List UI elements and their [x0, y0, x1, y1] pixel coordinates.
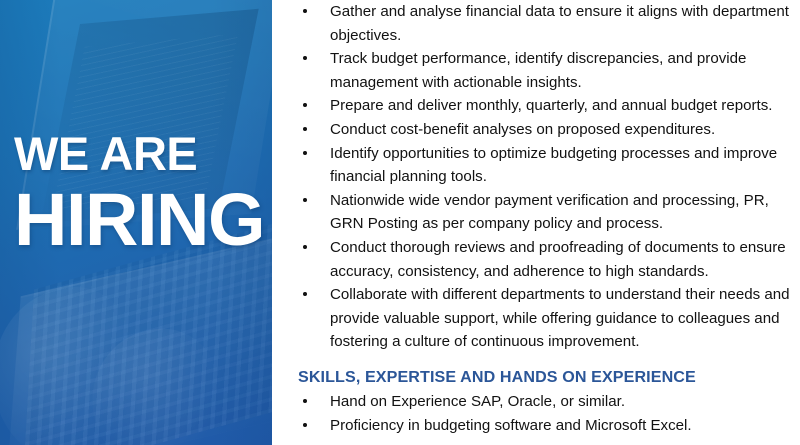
- list-item-text: Identify opportunities to optimize budge…: [330, 145, 777, 186]
- list-item: Gather and analyse financial data to ens…: [298, 0, 790, 47]
- list-item-text: Nationwide wide vendor payment verificat…: [330, 192, 769, 233]
- bullet-dot-icon: [303, 245, 307, 249]
- banner-content-gutter: [272, 0, 298, 445]
- banner-headline-line2: HIRING: [14, 182, 272, 258]
- bullet-dot-icon: [303, 423, 307, 427]
- list-item: Conduct thorough reviews and proofreadin…: [298, 236, 790, 283]
- list-item-text: Hand on Experience SAP, Oracle, or simil…: [330, 393, 625, 410]
- responsibilities-list: Gather and analyse financial data to ens…: [298, 0, 790, 354]
- job-details-content: Gather and analyse financial data to ens…: [298, 0, 790, 445]
- banner-headline-line1: WE ARE: [14, 128, 272, 180]
- list-item-text: Prepare and deliver monthly, quarterly, …: [330, 97, 772, 114]
- list-item-text: Gather and analyse financial data to ens…: [330, 3, 789, 44]
- list-item: Nationwide wide vendor payment verificat…: [298, 189, 790, 236]
- bullet-dot-icon: [303, 103, 307, 107]
- list-item-text: Conduct cost-benefit analyses on propose…: [330, 121, 715, 138]
- list-item: Collaborate with different departments t…: [298, 283, 790, 354]
- list-item-text: Track budget performance, identify discr…: [330, 50, 746, 91]
- list-item: Hand on Experience SAP, Oracle, or simil…: [298, 390, 790, 414]
- list-item: Prepare and deliver monthly, quarterly, …: [298, 94, 790, 118]
- list-item: Track budget performance, identify discr…: [298, 47, 790, 94]
- list-item-text: Conduct thorough reviews and proofreadin…: [330, 239, 786, 280]
- list-item: Proficiency in budgeting software and Mi…: [298, 414, 790, 438]
- hiring-banner: WE ARE HIRING: [0, 0, 272, 445]
- list-item-text: Proficiency in budgeting software and Mi…: [330, 417, 692, 434]
- bullet-dot-icon: [303, 9, 307, 13]
- banner-headline: WE ARE HIRING: [14, 128, 272, 258]
- bullet-dot-icon: [303, 198, 307, 202]
- bullet-dot-icon: [303, 127, 307, 131]
- skills-list: Hand on Experience SAP, Oracle, or simil…: [298, 390, 790, 437]
- bullet-dot-icon: [303, 151, 307, 155]
- list-item: Conduct cost-benefit analyses on propose…: [298, 118, 790, 142]
- skills-section-heading: SKILLS, EXPERTISE AND HANDS ON EXPERIENC…: [298, 365, 790, 389]
- bullet-dot-icon: [303, 399, 307, 403]
- list-item-text: Collaborate with different departments t…: [330, 286, 790, 350]
- job-posting-page: WE ARE HIRING Gather and analyse financi…: [0, 0, 800, 445]
- bullet-dot-icon: [303, 56, 307, 60]
- list-item: Identify opportunities to optimize budge…: [298, 142, 790, 189]
- bullet-dot-icon: [303, 292, 307, 296]
